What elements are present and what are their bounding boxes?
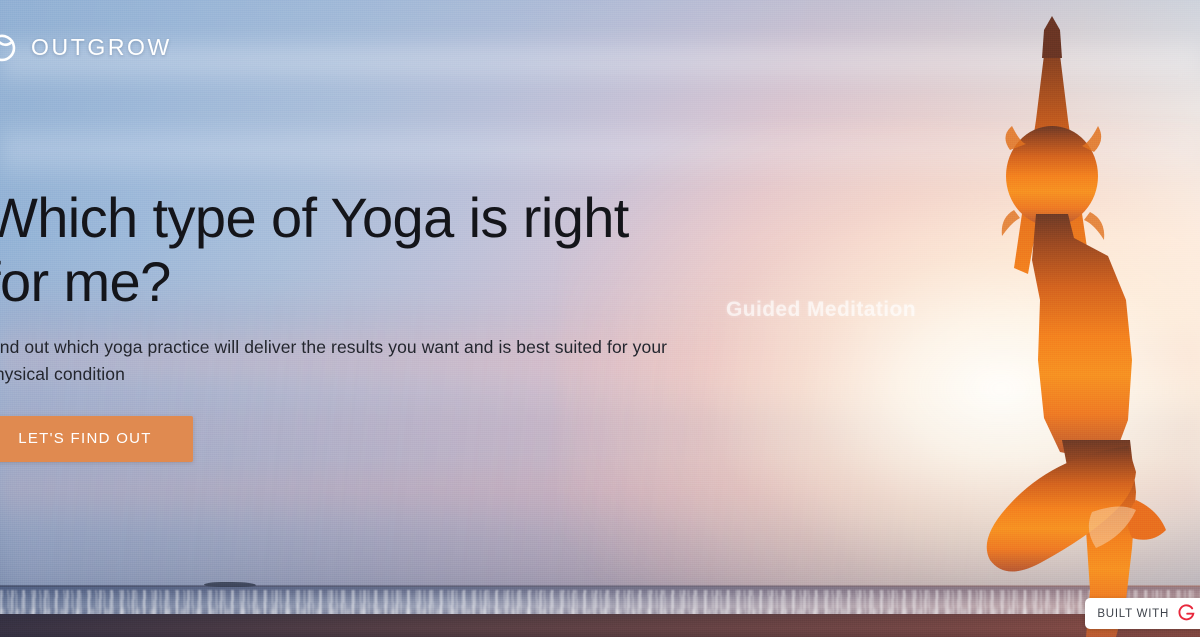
landing-page-stage: Guided Meditation OUTGROW Which type of … [0, 0, 1200, 637]
built-with-badge[interactable]: BUILT WITH [1085, 598, 1200, 629]
yoga-figure-silhouette [940, 0, 1200, 637]
outgrow-g-icon [1177, 604, 1196, 623]
hero-content: Which type of Yoga is right for me? Find… [0, 186, 745, 462]
outgrow-logo[interactable]: OUTGROW [0, 30, 172, 64]
lets-find-out-button[interactable]: LET'S FIND OUT [0, 416, 193, 462]
built-with-label: BUILT WITH [1097, 608, 1169, 620]
outgrow-circle-icon [0, 30, 20, 64]
hero-subtitle: Find out which yoga practice will delive… [0, 334, 675, 388]
boat-silhouette [204, 582, 256, 587]
page-title: Which type of Yoga is right for me? [0, 186, 745, 314]
outgrow-logo-text: OUTGROW [31, 34, 172, 61]
